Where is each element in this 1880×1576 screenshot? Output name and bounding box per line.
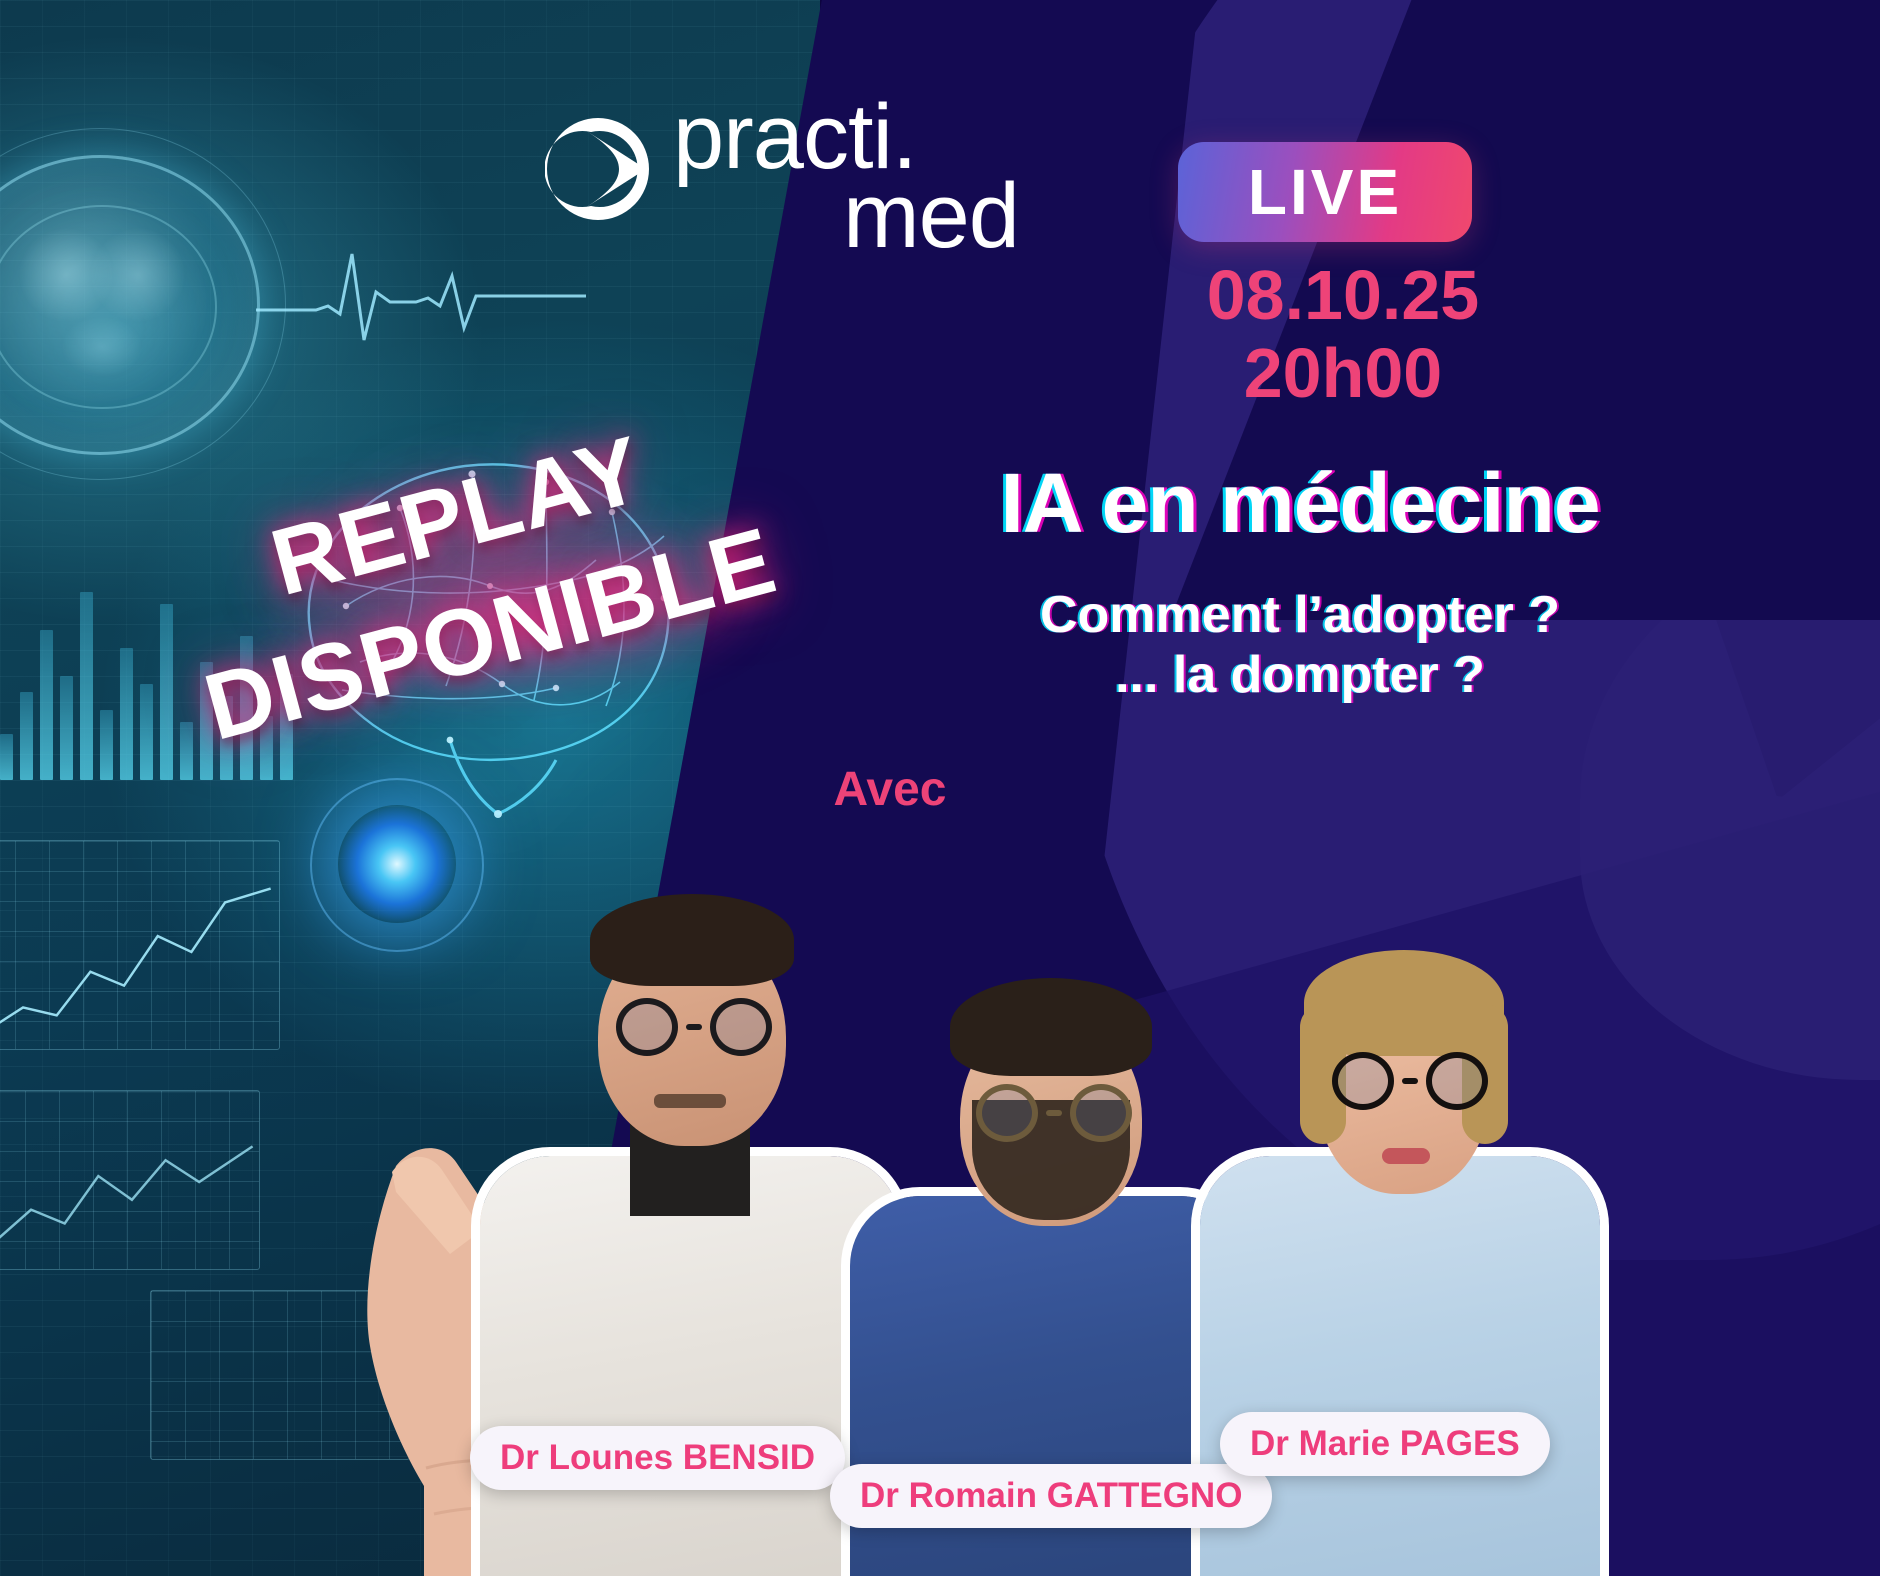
event-date: 08.10.25 [1178, 254, 1508, 337]
speaker-1-glasses-icon [616, 998, 772, 1056]
speaker-1-hair [590, 894, 794, 986]
line-chart-panel-1 [0, 840, 280, 1050]
line-chart-panel-2 [0, 1090, 260, 1270]
speaker-name-badge-2: Dr Romain GATTEGNO [830, 1464, 1272, 1528]
practimed-wordmark: practi. med [673, 98, 1019, 256]
promo-poster: practi. med LIVE 08.10.25 20h00 IA en mé… [0, 0, 1880, 1576]
speaker-3-glasses-icon [1332, 1052, 1488, 1110]
webinar-subtitle-line-2: ... la dompter ? [800, 645, 1800, 705]
event-time: 20h00 [1178, 332, 1508, 415]
logo-line-2: med [843, 177, 1019, 256]
practimed-logo[interactable]: practi. med [545, 110, 1055, 280]
webinar-title: IA en médecine [800, 455, 1800, 552]
speaker-name-badge-1: Dr Lounes BENSID [470, 1426, 845, 1490]
speaker-3-smile [1382, 1148, 1430, 1164]
live-badge-label: LIVE [1248, 155, 1402, 229]
practimed-circle-play-logo-icon [545, 116, 651, 222]
speaker-photo-2 [850, 816, 1250, 1576]
speaker-1-moustache [654, 1094, 726, 1108]
speaker-name-badge-3: Dr Marie PAGES [1220, 1412, 1550, 1476]
speaker-2-hair [950, 978, 1152, 1076]
speaker-2-glasses-icon [976, 1084, 1132, 1142]
ecg-waveform-icon [256, 236, 586, 356]
speaker-row: Dr Lounes BENSID Dr Romain GATTEGNO Dr M… [330, 760, 1880, 1576]
webinar-subtitle-line-1: Comment l’adopter ? [800, 585, 1800, 645]
live-badge[interactable]: LIVE [1178, 142, 1472, 242]
